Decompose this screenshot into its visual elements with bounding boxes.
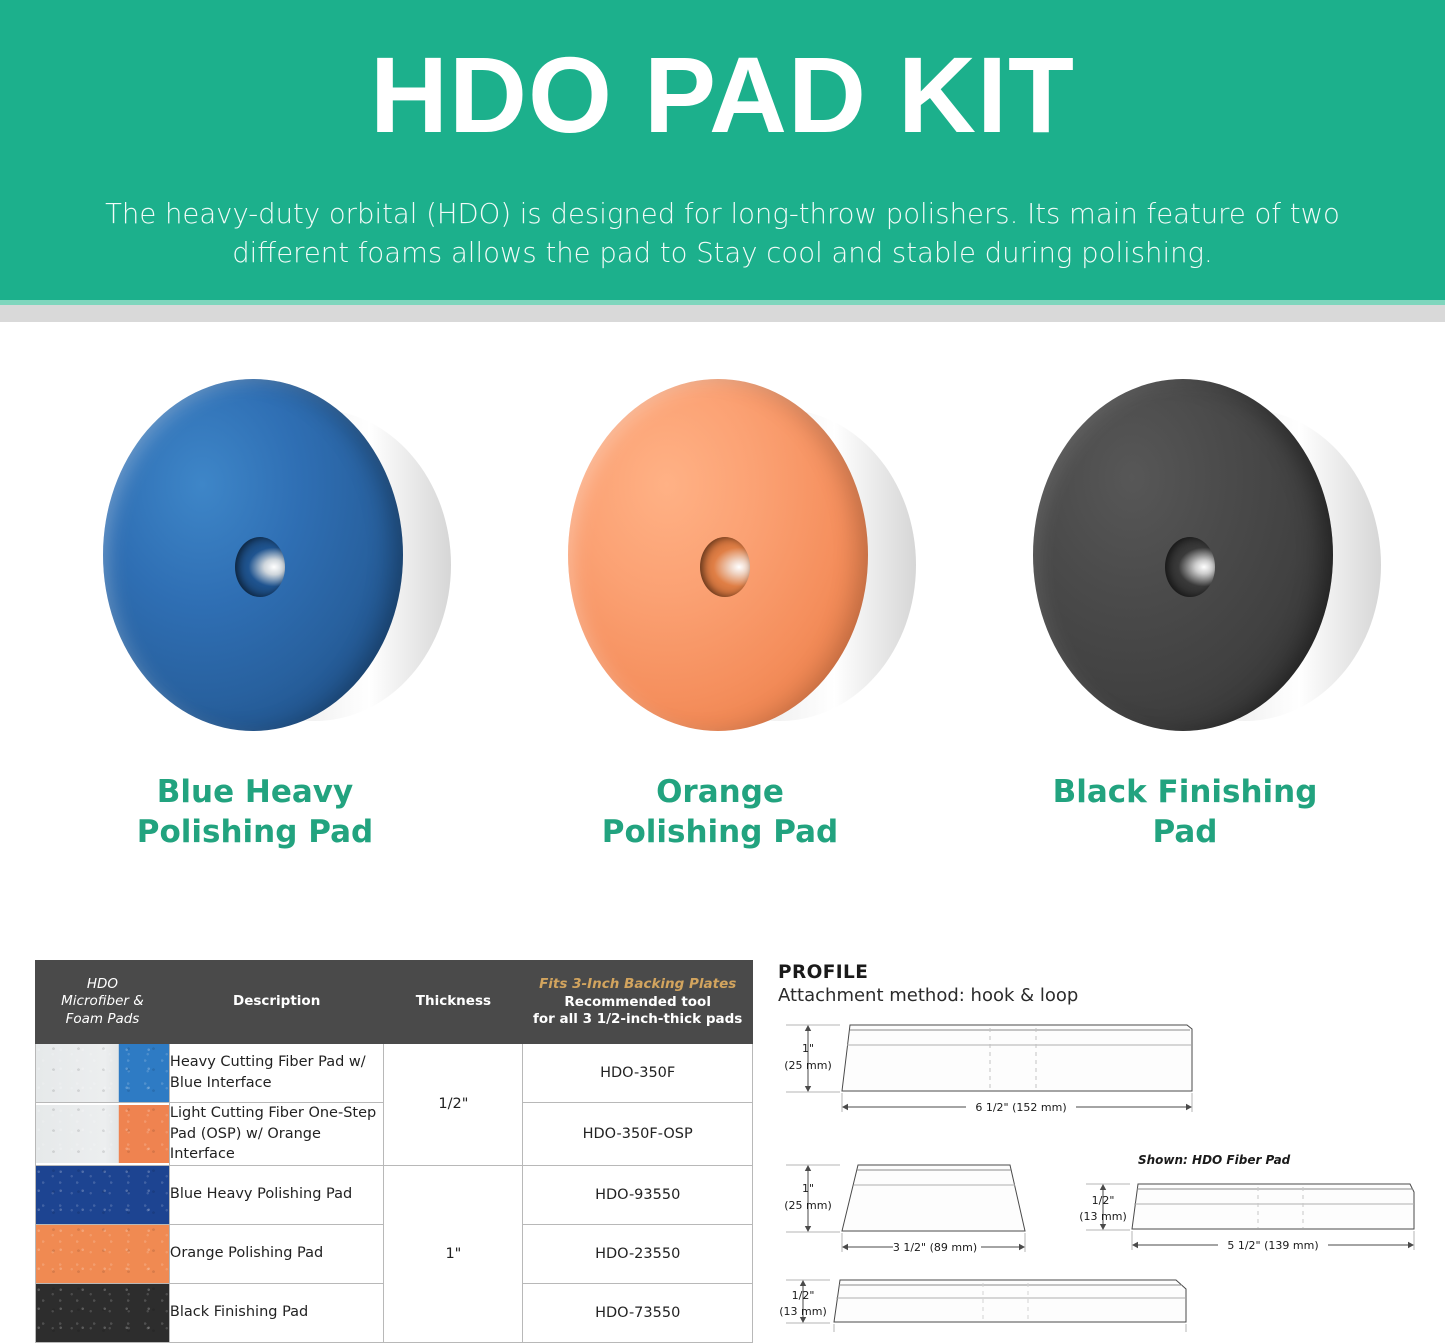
- profile-height-in-3: 1/2": [1092, 1194, 1115, 1207]
- profile-diagram-4: 6 1/2" (152 mm) 1/2" (13 mm): [779, 1280, 1186, 1332]
- column-header-tool-line2: for all 3 1/2-inch-thick pads: [533, 1011, 742, 1027]
- page-title: HDO PAD KIT: [0, 38, 1445, 151]
- product-blue-heavy-polishing-pad: Blue Heavy Polishing Pad: [35, 345, 475, 885]
- profile-height-mm-3: (13 mm): [1079, 1210, 1127, 1223]
- swatch-fiber-blue: [36, 1044, 169, 1102]
- row-thickness: 1/2": [384, 1044, 523, 1166]
- row-swatch-blue: [36, 1165, 170, 1224]
- pad-label-blue: Blue Heavy Polishing Pad: [35, 773, 475, 852]
- header-subtitle: The heavy-duty orbital (HDO) is designed…: [50, 195, 1395, 273]
- profile-width-label-1: 6 1/2" (152 mm): [975, 1101, 1066, 1114]
- swatch-texture: [36, 1044, 169, 1102]
- pad-face: [103, 379, 403, 731]
- row-tool: HDO-23550: [523, 1224, 753, 1283]
- profile-diagrams: 6 1/2" (152 mm) 1" (25 mm) 3: [778, 1012, 1438, 1332]
- pad-face: [568, 379, 868, 731]
- column-header-thickness: Thickness: [384, 961, 523, 1044]
- column-header-tool: Fits 3-Inch Backing Plates Recommended t…: [523, 961, 753, 1044]
- table-header-row: HDO Microfiber & Foam Pads Description T…: [36, 961, 753, 1044]
- header-gray-bar: [0, 305, 1445, 322]
- product-showcase: Blue Heavy Polishing Pad Orange Polishin…: [0, 345, 1445, 885]
- row-description: Orange Polishing Pad: [169, 1224, 383, 1283]
- page-header: HDO PAD KIT The heavy-duty orbital (HDO)…: [0, 0, 1445, 305]
- column-header-swatch-label: HDO Microfiber & Foam Pads: [42, 976, 163, 1029]
- profile-diagram-2: 3 1/2" (89 mm) 1" (25 mm): [784, 1165, 1025, 1254]
- row-swatch-orange: [36, 1224, 170, 1283]
- profile-subtitle: Attachment method: hook & loop: [778, 985, 1438, 1006]
- column-header-description: Description: [169, 961, 383, 1044]
- pad-center-hole: [235, 537, 285, 597]
- profile-height-mm-4: (13 mm): [779, 1305, 827, 1318]
- swatch-blue: [36, 1166, 169, 1224]
- profile-height-mm-1: (25 mm): [784, 1059, 832, 1072]
- swatch-fiber-orange: [36, 1105, 169, 1163]
- row-tool: HDO-350F: [523, 1044, 753, 1103]
- profile-diagram-3: Shown: HDO Fiber Pad 5 1/2" (139 mm) 1/2: [1079, 1153, 1414, 1252]
- profile-width-label-2: 3 1/2" (89 mm): [893, 1241, 977, 1254]
- row-tool: HDO-73550: [523, 1283, 753, 1342]
- row-description: Blue Heavy Polishing Pad: [169, 1165, 383, 1224]
- swatch-texture: [36, 1166, 169, 1224]
- profile-note-3: Shown: HDO Fiber Pad: [1138, 1153, 1291, 1167]
- swatch-orange: [36, 1225, 169, 1283]
- pad-image-orange: [560, 365, 880, 765]
- row-swatch-fiber-orange: [36, 1103, 170, 1166]
- profile-height-mm-2: (25 mm): [784, 1199, 832, 1212]
- product-orange-polishing-pad: Orange Polishing Pad: [500, 345, 940, 885]
- table-row: Blue Heavy Polishing Pad 1" HDO-93550: [36, 1165, 753, 1224]
- column-header-tool-line1: Recommended tool: [564, 994, 711, 1010]
- row-description: Light Cutting Fiber One-Step Pad (OSP) w…: [169, 1103, 383, 1166]
- table-row: Heavy Cutting Fiber Pad w/ Blue Interfac…: [36, 1044, 753, 1103]
- profile-width-label-3: 5 1/2" (139 mm): [1227, 1239, 1318, 1252]
- row-swatch-fiber-blue: [36, 1044, 170, 1103]
- swatch-black: [36, 1284, 169, 1342]
- pad-label-black: Black Finishing Pad: [965, 773, 1405, 852]
- profile-section: PROFILE Attachment method: hook & loop: [778, 962, 1438, 1332]
- profile-height-in-1: 1": [802, 1042, 814, 1055]
- row-tool: HDO-350F-OSP: [523, 1103, 753, 1166]
- swatch-texture: [36, 1225, 169, 1283]
- pad-image-black: [1025, 365, 1345, 765]
- pad-center-hole: [700, 537, 750, 597]
- row-tool: HDO-93550: [523, 1165, 753, 1224]
- spec-table: HDO Microfiber & Foam Pads Description T…: [35, 960, 753, 1343]
- row-description: Black Finishing Pad: [169, 1283, 383, 1342]
- column-header-tool-eyebrow: Fits 3-Inch Backing Plates: [529, 975, 746, 993]
- row-swatch-black: [36, 1283, 170, 1342]
- row-thickness: 1": [384, 1165, 523, 1342]
- product-black-finishing-pad: Black Finishing Pad: [965, 345, 1405, 885]
- pad-face: [1033, 379, 1333, 731]
- column-header-swatch: HDO Microfiber & Foam Pads: [36, 961, 170, 1044]
- profile-diagram-1: 6 1/2" (152 mm) 1" (25 mm): [784, 1025, 1192, 1114]
- profile-height-in-4: 1/2": [792, 1289, 815, 1302]
- profile-title: PROFILE: [778, 962, 1438, 983]
- pad-center-hole: [1165, 537, 1215, 597]
- pad-image-blue: [95, 365, 415, 765]
- swatch-texture: [36, 1105, 169, 1163]
- swatch-texture: [36, 1284, 169, 1342]
- profile-height-in-2: 1": [802, 1182, 814, 1195]
- row-description: Heavy Cutting Fiber Pad w/ Blue Interfac…: [169, 1044, 383, 1103]
- pad-label-orange: Orange Polishing Pad: [500, 773, 940, 852]
